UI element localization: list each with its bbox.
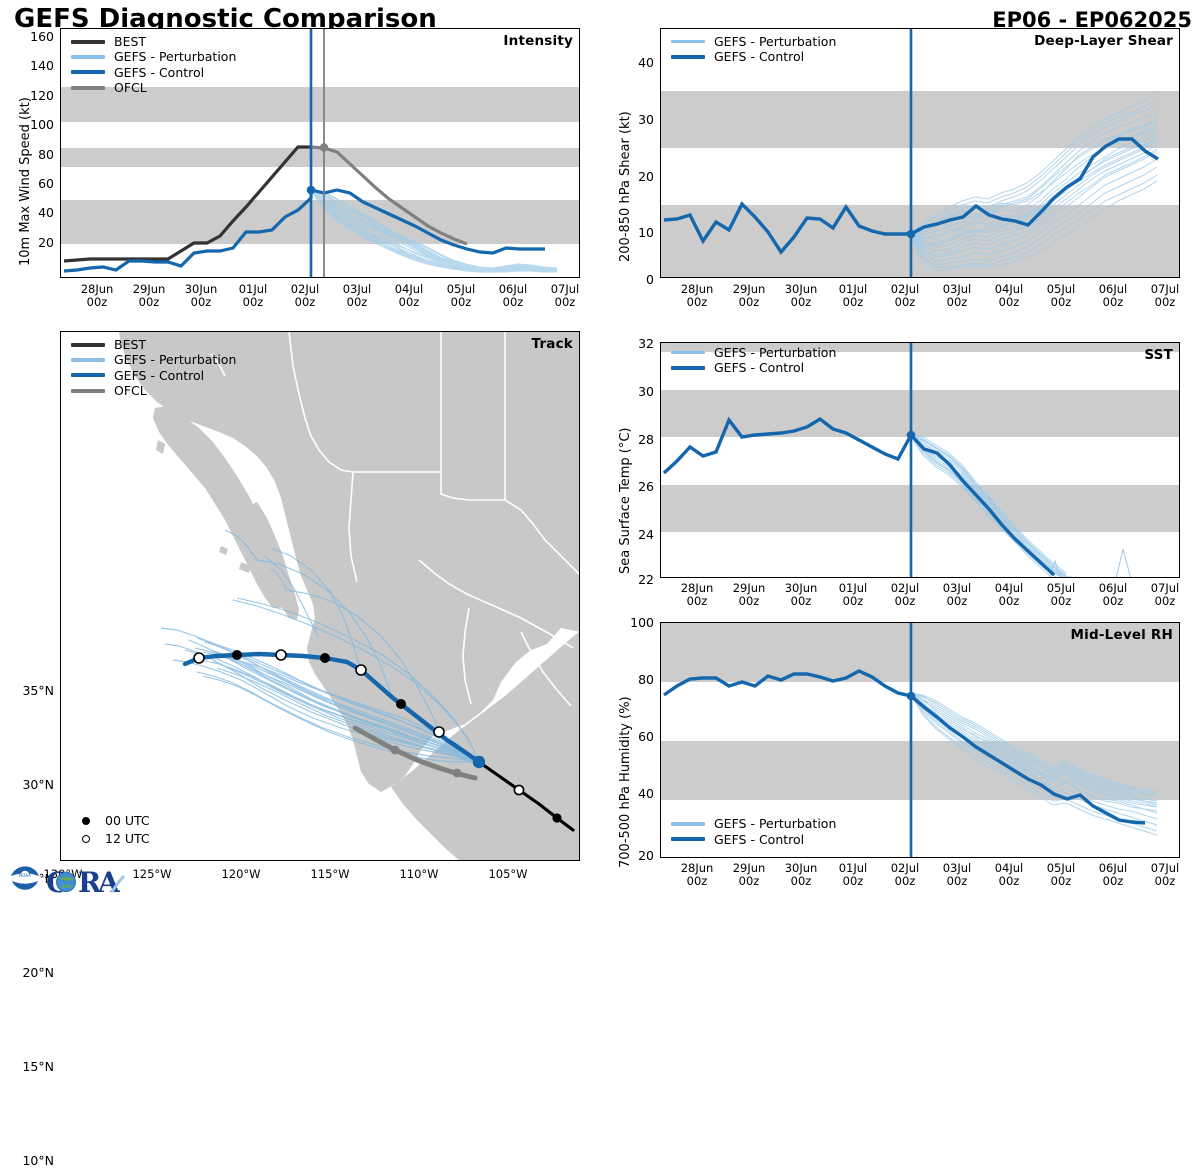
branding-logos: NOAA C R A [8, 862, 138, 898]
marker-legend-label-00utc: 00 UTC [105, 812, 150, 830]
legend-label-best: BEST [114, 34, 146, 49]
sst-legend-item-perturbation: GEFS - Perturbation [671, 345, 836, 360]
track-legend-label-best: BEST [114, 337, 146, 352]
sst-xtick-3: 01Jul00z [824, 582, 882, 608]
intensity-ytick-100: 100 [20, 117, 54, 132]
rh-legend-item-perturbation: GEFS - Perturbation [671, 816, 836, 831]
shear-xtick-6: 04Jul00z [980, 283, 1038, 309]
track-ytick-20: 20°N [6, 965, 54, 980]
track-legend-label-ofcl: OFCL [114, 383, 147, 398]
open-circle-icon [75, 830, 97, 848]
rh-ytick-20: 20 [618, 848, 654, 863]
track-ytick-10: 10°N [6, 1153, 54, 1168]
track-legend: BEST GEFS - Perturbation GEFS - Control … [71, 337, 236, 399]
shear-ytick-40: 40 [624, 55, 654, 70]
track-legend-item-ofcl: OFCL [71, 383, 236, 398]
intensity-xtick-3: 01Jul00z [224, 283, 282, 309]
rh-legend-swatch-perturbation [671, 822, 705, 825]
svg-text:NOAA: NOAA [19, 873, 31, 878]
shear-xtick-1: 29Jun00z [720, 283, 778, 309]
track-ytick-35: 35°N [6, 683, 54, 698]
sst-corner-title: SST [1144, 347, 1173, 363]
sst-control-line [664, 419, 1054, 575]
rh-corner-title: Mid-Level RH [1071, 627, 1173, 643]
rh-ylabel: 700-500 hPa Humidity (%) [618, 696, 633, 868]
shear-xtick-3: 01Jul00z [824, 283, 882, 309]
legend-label-perturbation: GEFS - Perturbation [114, 49, 236, 64]
rh-xtick-2: 30Jun00z [772, 862, 830, 888]
shear-ytick-10: 10 [624, 225, 654, 240]
rh-xtick-5: 03Jul00z [928, 862, 986, 888]
intensity-ytick-80: 80 [20, 147, 54, 162]
sst-legend-item-control: GEFS - Control [671, 360, 836, 375]
rh-xtick-4: 02Jul00z [876, 862, 934, 888]
shear-legend: GEFS - Perturbation GEFS - Control [671, 34, 836, 65]
track-xtick-3: 115°W [300, 868, 360, 881]
intensity-ytick-60: 60 [20, 176, 54, 191]
legend-item-best: BEST [71, 34, 236, 49]
sst-xtick-8: 06Jul00z [1084, 582, 1142, 608]
track-legend-item-best: BEST [71, 337, 236, 352]
shear-xtick-9: 07Jul00z [1136, 283, 1194, 309]
track-legend-swatch-best [71, 343, 105, 347]
shear-xtick-7: 05Jul00z [1032, 283, 1090, 309]
intensity-xtick-0: 28Jun00z [68, 283, 126, 309]
legend-label-ofcl: OFCL [114, 80, 147, 95]
sst-ytick-28: 28 [624, 432, 654, 447]
intensity-ytick-20: 20 [20, 235, 54, 250]
legend-swatch-perturbation [71, 55, 105, 58]
intensity-ytick-40: 40 [20, 205, 54, 220]
shear-legend-label-perturbation: GEFS - Perturbation [714, 34, 836, 49]
sst-axes: SST GEFS - Perturbation GEFS - Control [660, 342, 1180, 578]
sst-xtick-5: 03Jul00z [928, 582, 986, 608]
shear-ytick-0: 0 [624, 272, 654, 287]
rh-ytick-40: 40 [618, 786, 654, 801]
marker-legend-00utc: 00 UTC [75, 812, 150, 830]
shear-corner-title: Deep-Layer Shear [1034, 33, 1173, 49]
rh-legend-swatch-control [671, 837, 705, 841]
sst-xtick-9: 07Jul00z [1136, 582, 1194, 608]
rh-xtick-6: 04Jul00z [980, 862, 1038, 888]
sst-xtick-7: 05Jul00z [1032, 582, 1090, 608]
sst-legend-label-control: GEFS - Control [714, 360, 804, 375]
sst-spike-2 [1116, 549, 1131, 578]
sst-legend-swatch-control [671, 366, 705, 370]
rh-xtick-3: 01Jul00z [824, 862, 882, 888]
shear-ytick-20: 20 [624, 169, 654, 184]
intensity-panel: 10m Max Wind Speed (kt) 160 140 120 100 … [0, 0, 600, 320]
rh-xtick-9: 07Jul00z [1136, 862, 1194, 888]
intensity-ytick-120: 120 [20, 88, 54, 103]
track-legend-swatch-ofcl [71, 389, 105, 392]
shear-xtick-4: 02Jul00z [876, 283, 934, 309]
legend-item-ofcl: OFCL [71, 80, 236, 95]
intensity-best-line [64, 147, 311, 261]
shear-legend-item-control: GEFS - Control [671, 49, 836, 64]
rh-xtick-1: 29Jun00z [720, 862, 778, 888]
rh-control-line [664, 671, 1145, 823]
intensity-axes: Intensity BEST GEFS - Perturbation GEFS … [60, 28, 580, 278]
shear-legend-swatch-perturbation [671, 40, 705, 43]
shear-plot [661, 29, 1180, 278]
legend-item-perturbation: GEFS - Perturbation [71, 49, 236, 64]
intensity-ytick-160: 160 [20, 29, 54, 44]
sst-xtick-2: 30Jun00z [772, 582, 830, 608]
sst-ylabel: Sea Surface Temp (°C) [618, 427, 633, 574]
legend-swatch-ofcl [71, 86, 105, 89]
shear-xtick-0: 28Jun00z [668, 283, 726, 309]
sst-legend-swatch-perturbation [671, 351, 705, 354]
sst-ytick-26: 26 [624, 479, 654, 494]
intensity-corner-title: Intensity [503, 33, 573, 49]
marker-legend-12utc: 12 UTC [75, 830, 150, 848]
sst-panel: Sea Surface Temp (°C) 32 30 28 26 24 22 [600, 320, 1200, 610]
noaa-cira-logo: NOAA C R A [8, 862, 138, 898]
rh-ytick-80: 80 [618, 672, 654, 687]
intensity-xtick-6: 04Jul00z [380, 283, 438, 309]
sst-ytick-32: 32 [624, 336, 654, 351]
legend-label-control: GEFS - Control [114, 65, 204, 80]
intensity-xtick-1: 29Jun00z [120, 283, 178, 309]
filled-circle-icon [75, 812, 97, 830]
sst-ytick-22: 22 [624, 572, 654, 587]
track-axes: Track BEST GEFS - Perturbation GEFS - Co… [60, 331, 580, 861]
rh-xtick-0: 28Jun00z [668, 862, 726, 888]
sst-xtick-4: 02Jul00z [876, 582, 934, 608]
intensity-xtick-8: 06Jul00z [484, 283, 542, 309]
rh-xtick-8: 06Jul00z [1084, 862, 1142, 888]
track-map [61, 332, 580, 861]
track-marker-legend: 00 UTC 12 UTC [75, 812, 150, 848]
shear-xtick-5: 03Jul00z [928, 283, 986, 309]
rh-legend-label-control: GEFS - Control [714, 832, 804, 847]
track-corner-title: Track [532, 336, 573, 352]
land-island-cedros [156, 440, 165, 454]
intensity-ytick-140: 140 [20, 58, 54, 73]
rh-ytick-60: 60 [618, 729, 654, 744]
shear-panel: 200-850 hPa Shear (kt) 40 30 20 10 0 [600, 0, 1200, 320]
shear-legend-item-perturbation: GEFS - Perturbation [671, 34, 836, 49]
sst-plot [661, 343, 1180, 578]
cira-logo: C R A [46, 866, 124, 898]
sst-ytick-30: 30 [624, 384, 654, 399]
rh-ytick-100: 100 [618, 615, 654, 630]
track-ytick-15: 15°N [6, 1059, 54, 1074]
track-legend-item-control: GEFS - Control [71, 368, 236, 383]
track-xtick-5: 105°W [478, 868, 538, 881]
track-ytick-30: 30°N [6, 777, 54, 792]
track-xtick-4: 110°W [389, 868, 449, 881]
rh-xtick-7: 05Jul00z [1032, 862, 1090, 888]
rh-legend-label-perturbation: GEFS - Perturbation [714, 816, 836, 831]
sst-xtick-0: 28Jun00z [668, 582, 726, 608]
shear-xtick-8: 06Jul00z [1084, 283, 1142, 309]
track-legend-label-control: GEFS - Control [114, 368, 204, 383]
sst-xtick-6: 04Jul00z [980, 582, 1038, 608]
intensity-xtick-7: 05Jul00z [432, 283, 490, 309]
track-legend-item-perturbation: GEFS - Perturbation [71, 352, 236, 367]
legend-swatch-control [71, 70, 105, 74]
track-xtick-2: 120°W [211, 868, 271, 881]
sst-legend: GEFS - Perturbation GEFS - Control [671, 345, 836, 376]
rh-panel: 700-500 hPa Humidity (%) 100 80 60 40 20 [600, 610, 1200, 900]
legend-item-control: GEFS - Control [71, 65, 236, 80]
rh-axes: Mid-Level RH GEFS - Perturbation GEFS - … [660, 622, 1180, 858]
noaa-logo: NOAA [9, 864, 41, 896]
intensity-legend: BEST GEFS - Perturbation GEFS - Control … [71, 34, 236, 96]
intensity-xtick-5: 03Jul00z [328, 283, 386, 309]
track-legend-swatch-perturbation [71, 358, 105, 361]
marker-legend-label-12utc: 12 UTC [105, 830, 150, 848]
track-panel: 35°N 30°N 25°N 20°N 15°N 10°N [0, 325, 600, 900]
shear-xtick-2: 30Jun00z [772, 283, 830, 309]
intensity-xtick-4: 02Jul00z [276, 283, 334, 309]
rh-legend: GEFS - Perturbation GEFS - Control [671, 816, 836, 847]
shear-legend-label-control: GEFS - Control [714, 49, 804, 64]
track-legend-label-perturbation: GEFS - Perturbation [114, 352, 236, 367]
legend-swatch-best [71, 40, 105, 44]
sst-xtick-1: 29Jun00z [720, 582, 778, 608]
intensity-xtick-9: 07Jul00z [536, 283, 594, 309]
sst-legend-label-perturbation: GEFS - Perturbation [714, 345, 836, 360]
landmass-shapes [119, 332, 580, 861]
sst-ytick-24: 24 [624, 527, 654, 542]
rh-legend-item-control: GEFS - Control [671, 832, 836, 847]
intensity-xtick-2: 30Jun00z [172, 283, 230, 309]
shear-axes: Deep-Layer Shear GEFS - Perturbation GEF… [660, 28, 1180, 278]
shear-ytick-30: 30 [624, 112, 654, 127]
track-legend-swatch-control [71, 373, 105, 377]
shear-legend-swatch-control [671, 55, 705, 59]
land-island-tiny [219, 546, 228, 555]
